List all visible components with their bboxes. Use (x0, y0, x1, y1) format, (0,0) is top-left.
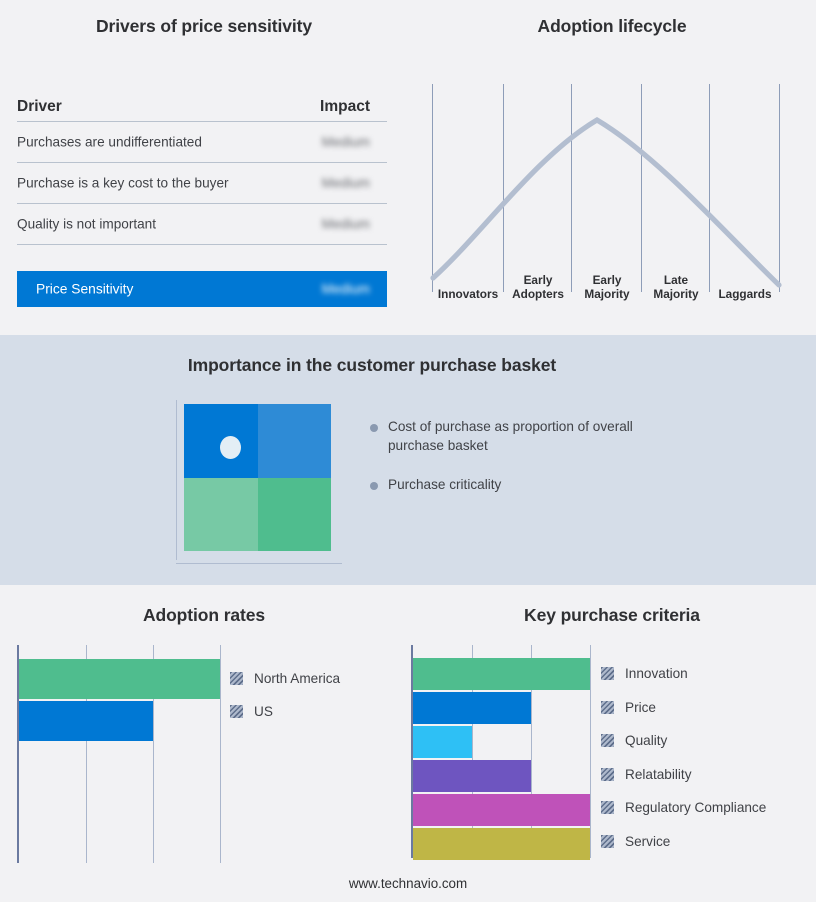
basket-panel-title: Importance in the customer purchase bask… (0, 355, 744, 376)
legend-item: Service (601, 825, 766, 859)
lifecycle-bell-curve (433, 120, 779, 285)
gridline (220, 645, 221, 863)
legend-item: Cost of purchase as proportion of overal… (370, 418, 650, 455)
table-row: Purchases are undifferentiated Medium (17, 122, 387, 163)
drivers-panel-title: Drivers of price sensitivity (0, 16, 408, 37)
legend-item: Regulatory Compliance (601, 791, 766, 825)
hatched-swatch-icon (601, 801, 614, 814)
plot-area (411, 645, 593, 858)
quadrant-x-axis (176, 563, 342, 564)
bullet-dot-icon (370, 482, 378, 490)
quadrant-position-marker (220, 436, 241, 459)
lifecycle-stage-label: Laggards (710, 288, 780, 302)
bar-service (413, 828, 590, 860)
adoption-rates-legend: North America US (230, 662, 340, 728)
legend-item-label: Cost of purchase as proportion of overal… (388, 419, 633, 453)
driver-impact-value: Medium (322, 135, 370, 150)
basket-legend: Cost of purchase as proportion of overal… (370, 418, 650, 516)
legend-item: Quality (601, 724, 766, 758)
bullet-dot-icon (370, 424, 378, 432)
bar-regulatory-compliance (413, 794, 590, 826)
key-purchase-criteria-chart (411, 645, 593, 858)
legend-item-label: Quality (625, 733, 667, 748)
purchase-basket-quadrant-chart (176, 398, 348, 564)
hatched-swatch-icon (601, 667, 614, 680)
legend-item-label: Price (625, 700, 656, 715)
adoption-rates-title: Adoption rates (0, 605, 408, 626)
legend-item: North America (230, 662, 340, 695)
bar-north-america (19, 659, 220, 699)
legend-item-label: Regulatory Compliance (625, 800, 766, 815)
lifecycle-stage-label: Innovators (432, 288, 504, 302)
driver-impact-value: Medium (322, 217, 370, 232)
legend-item-label: Purchase criticality (388, 477, 501, 492)
driver-name: Purchases are undifferentiated (17, 135, 202, 150)
quadrant-grid (184, 404, 331, 551)
table-row: Quality is not important Medium (17, 204, 387, 245)
legend-item-label: Service (625, 834, 670, 849)
driver-name: Quality is not important (17, 217, 156, 232)
legend-item-label: Relatability (625, 767, 692, 782)
bar-quality (413, 726, 472, 758)
hatched-swatch-icon (601, 734, 614, 747)
hatched-swatch-icon (230, 705, 243, 718)
column-header-driver: Driver (17, 98, 62, 116)
lifecycle-dividers (433, 84, 780, 292)
adoption-rates-chart (17, 645, 222, 863)
legend-item: Relatability (601, 758, 766, 792)
table-header-row: Driver Impact (17, 92, 387, 122)
adoption-lifecycle-chart: Innovators Early Adopters Early Majority… (408, 60, 816, 315)
driver-impact-value: Medium (322, 176, 370, 191)
legend-item-label: Innovation (625, 666, 688, 681)
lifecycle-stage-label: Early Majority (572, 274, 642, 301)
legend-item: Price (601, 691, 766, 725)
legend-item: US (230, 695, 340, 728)
hatched-swatch-icon (601, 768, 614, 781)
bar-price (413, 692, 531, 724)
summary-label: Price Sensitivity (36, 282, 133, 297)
plot-area (17, 645, 222, 863)
hatched-swatch-icon (601, 701, 614, 714)
legend-item-label: North America (254, 671, 340, 686)
lifecycle-stage-label: Early Adopters (504, 274, 572, 301)
legend-item: Innovation (601, 657, 766, 691)
summary-impact-value: Medium (322, 282, 370, 297)
quadrant-cell-bottom-left (184, 478, 258, 552)
key-purchase-criteria-legend: Innovation Price Quality Relatability Re… (601, 657, 766, 858)
driver-name: Purchase is a key cost to the buyer (17, 176, 229, 191)
bar-innovation (413, 658, 590, 690)
lifecycle-stage-label: Late Majority (642, 274, 710, 301)
hatched-swatch-icon (230, 672, 243, 685)
legend-item-label: US (254, 704, 273, 719)
quadrant-cell-top-right (258, 404, 332, 478)
quadrant-y-axis (176, 400, 177, 560)
bar-us (19, 701, 153, 741)
key-purchase-criteria-title: Key purchase criteria (408, 605, 816, 626)
hatched-swatch-icon (601, 835, 614, 848)
gridline (590, 645, 591, 858)
adoption-lifecycle-title: Adoption lifecycle (408, 16, 816, 37)
column-header-impact: Impact (320, 98, 370, 116)
bar-relatability (413, 760, 531, 792)
table-row: Purchase is a key cost to the buyer Medi… (17, 163, 387, 204)
legend-item: Purchase criticality (370, 476, 650, 495)
quadrant-cell-bottom-right (258, 478, 332, 552)
footer-website-url: www.technavio.com (0, 876, 816, 891)
drivers-table: Driver Impact Purchases are undifferenti… (17, 92, 387, 245)
price-sensitivity-summary-row: Price Sensitivity Medium (17, 271, 387, 307)
